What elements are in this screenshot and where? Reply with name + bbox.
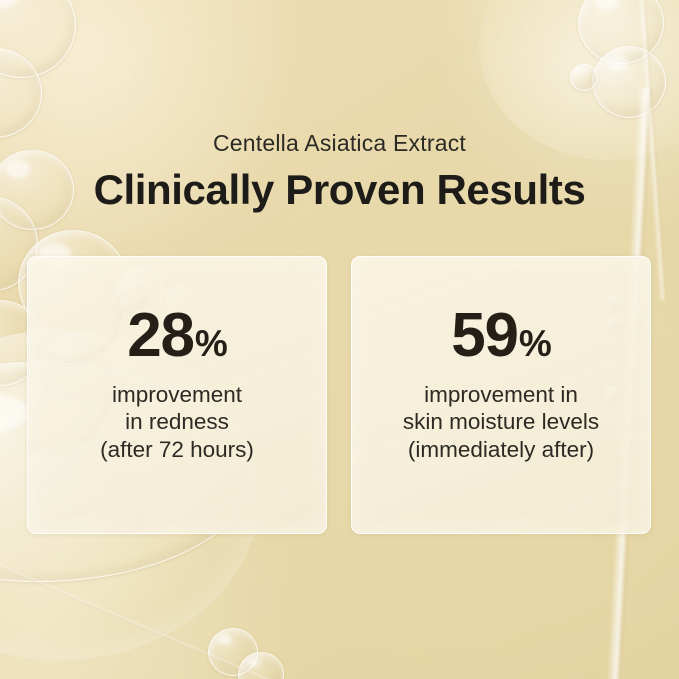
stat-percent-sign: % bbox=[195, 327, 227, 361]
bubble-icon bbox=[592, 46, 666, 118]
stat-description: improvement in redness (after 72 hours) bbox=[28, 381, 326, 463]
stat-number: 28 bbox=[127, 307, 194, 364]
stat-description-line: skin moisture levels bbox=[352, 408, 650, 435]
header-block: Centella Asiatica Extract Clinically Pro… bbox=[0, 132, 679, 211]
stat-card-content: 59% improvement in skin moisture levels … bbox=[352, 257, 650, 463]
infographic-canvas: Centella Asiatica Extract Clinically Pro… bbox=[0, 0, 679, 679]
stat-description: improvement in skin moisture levels (imm… bbox=[352, 381, 650, 463]
bubble-icon bbox=[570, 64, 598, 91]
stat-value: 28% bbox=[28, 307, 326, 364]
stat-card-group: 28% improvement in redness (after 72 hou… bbox=[27, 256, 651, 534]
stat-description-line: (after 72 hours) bbox=[28, 436, 326, 463]
stat-value: 59% bbox=[352, 307, 650, 364]
eyebrow-text: Centella Asiatica Extract bbox=[0, 132, 679, 155]
stat-card-moisture: 59% improvement in skin moisture levels … bbox=[351, 256, 651, 534]
stat-percent-sign: % bbox=[519, 327, 551, 361]
stat-description-line: improvement in bbox=[352, 381, 650, 408]
stat-description-line: improvement bbox=[28, 381, 326, 408]
stat-description-line: (immediately after) bbox=[352, 436, 650, 463]
stat-description-line: in redness bbox=[28, 408, 326, 435]
stat-card-redness: 28% improvement in redness (after 72 hou… bbox=[27, 256, 327, 534]
page-title: Clinically Proven Results bbox=[0, 169, 679, 211]
stat-card-content: 28% improvement in redness (after 72 hou… bbox=[28, 257, 326, 463]
stat-number: 59 bbox=[451, 307, 518, 364]
